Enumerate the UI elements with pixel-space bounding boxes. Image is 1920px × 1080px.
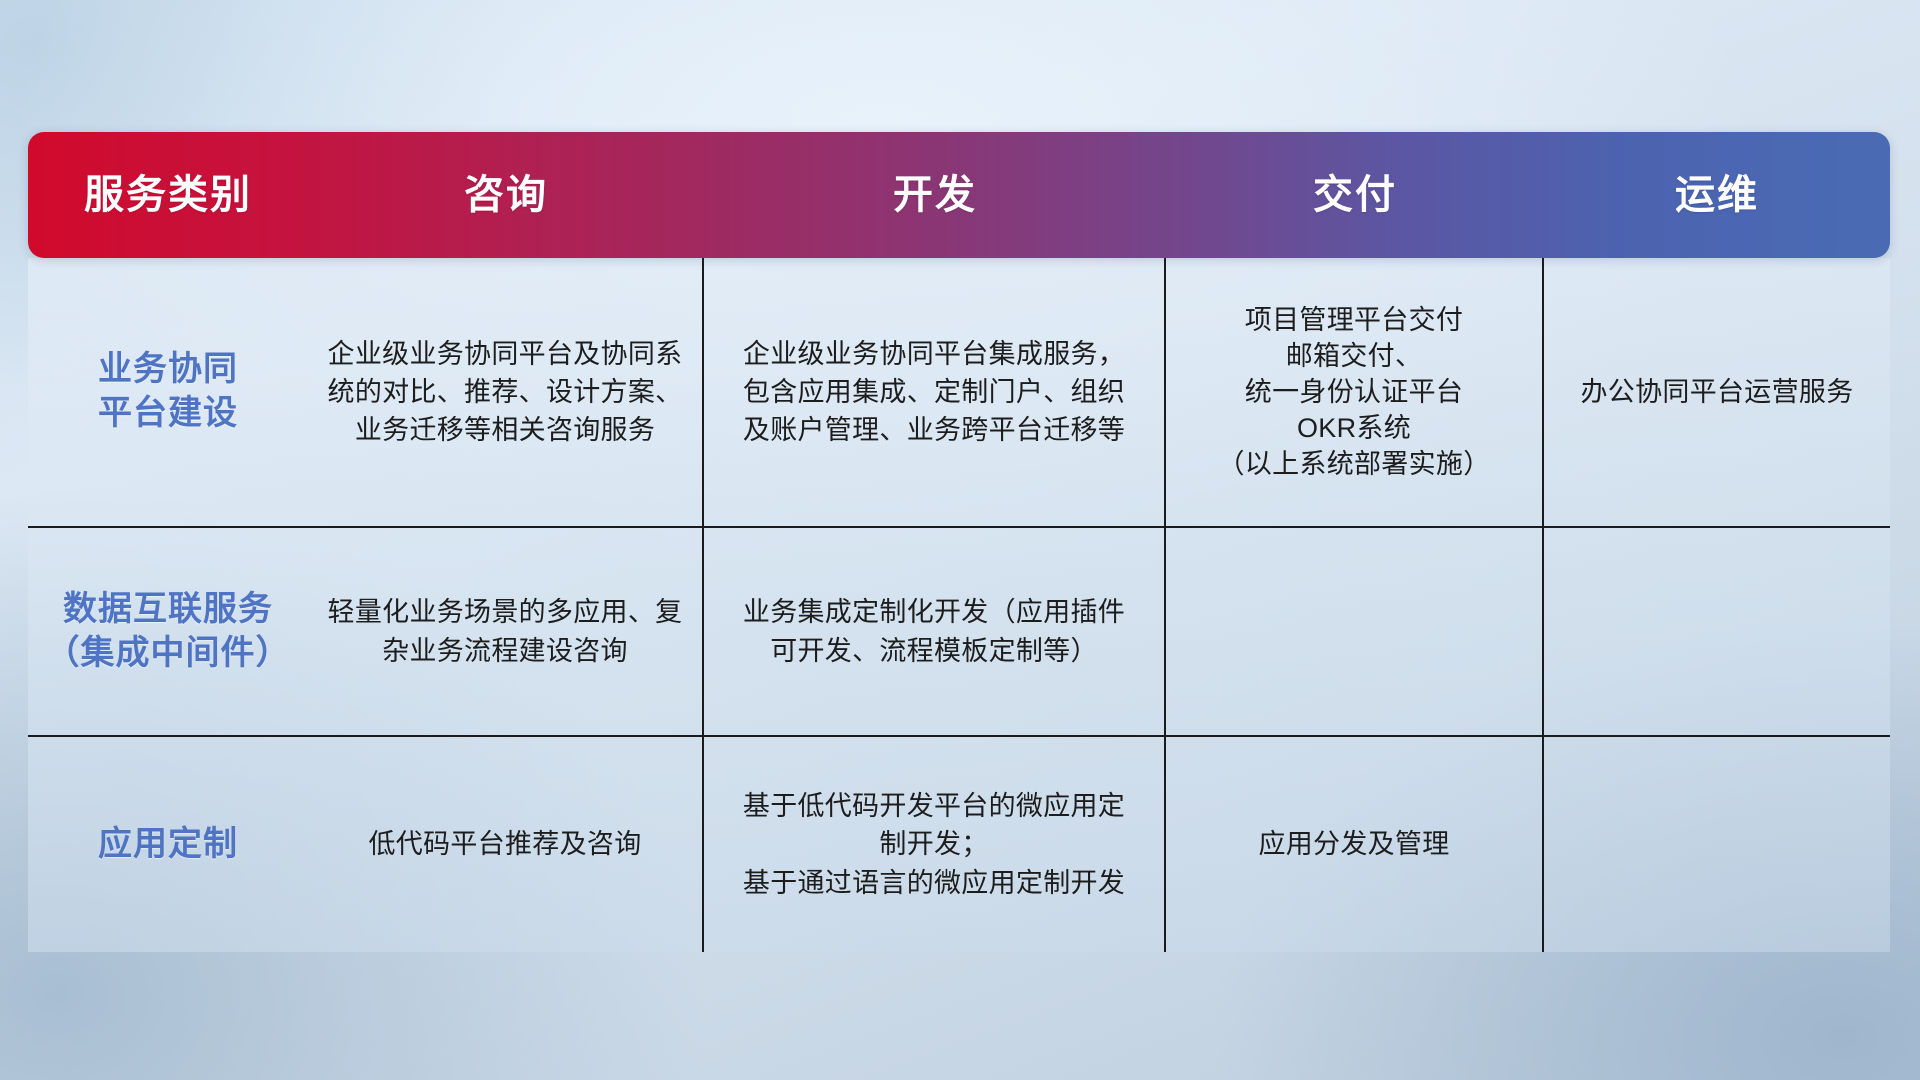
row-operations-cell: 办公协同平台运营服务 bbox=[1544, 258, 1890, 526]
header-cell-service-category: 服务类别 bbox=[28, 175, 308, 215]
row-consulting-cell: 企业级业务协同平台及协同系 统的对比、推荐、设计方案、 业务迁移等相关咨询服务 bbox=[308, 258, 704, 526]
row-category-cell: 数据互联服务 （集成中间件） bbox=[28, 528, 308, 735]
cell-value: 办公协同平台运营服务 bbox=[1581, 373, 1854, 411]
row-delivery-cell: 项目管理平台交付 邮箱交付、 统一身份认证平台 OKR系统 （以上系统部署实施） bbox=[1166, 258, 1544, 526]
table-row: 应用定制 低代码平台推荐及咨询 基于低代码开发平台的微应用定 制开发； 基于通过… bbox=[28, 735, 1890, 952]
cell-value: 业务集成定制化开发（应用插件 可开发、流程模板定制等） bbox=[743, 593, 1125, 670]
header-cell-operations: 运维 bbox=[1544, 175, 1890, 215]
row-category-cell: 业务协同 平台建设 bbox=[28, 258, 308, 526]
cell-value: 企业级业务协同平台集成服务， 包含应用集成、定制门户、组织 及账户管理、业务跨平… bbox=[743, 335, 1125, 450]
row-delivery-cell bbox=[1166, 528, 1544, 735]
header-cell-delivery: 交付 bbox=[1166, 175, 1544, 215]
row-consulting-cell: 轻量化业务场景的多应用、复 杂业务流程建设咨询 bbox=[308, 528, 704, 735]
table-row: 业务协同 平台建设 企业级业务协同平台及协同系 统的对比、推荐、设计方案、 业务… bbox=[28, 258, 1890, 526]
cell-value: 企业级业务协同平台及协同系 统的对比、推荐、设计方案、 业务迁移等相关咨询服务 bbox=[328, 335, 683, 450]
row-consulting-cell: 低代码平台推荐及咨询 bbox=[308, 737, 704, 952]
cell-value: 轻量化业务场景的多应用、复 杂业务流程建设咨询 bbox=[328, 593, 683, 670]
service-matrix-table: 服务类别 咨询 开发 交付 运维 业务协同 平台建设 企业级业务协同平台及协同系… bbox=[28, 132, 1890, 952]
row-development-cell: 业务集成定制化开发（应用插件 可开发、流程模板定制等） bbox=[704, 528, 1166, 735]
cell-value: 应用分发及管理 bbox=[1258, 825, 1449, 863]
category-label: 业务协同 平台建设 bbox=[98, 348, 238, 435]
header-cell-consulting: 咨询 bbox=[308, 175, 704, 215]
row-delivery-cell: 应用分发及管理 bbox=[1166, 737, 1544, 952]
table-header-row: 服务类别 咨询 开发 交付 运维 bbox=[28, 132, 1890, 258]
category-label: 应用定制 bbox=[98, 823, 238, 867]
row-operations-cell bbox=[1544, 737, 1890, 952]
row-development-cell: 基于低代码开发平台的微应用定 制开发； 基于通过语言的微应用定制开发 bbox=[704, 737, 1166, 952]
table-body: 业务协同 平台建设 企业级业务协同平台及协同系 统的对比、推荐、设计方案、 业务… bbox=[28, 258, 1890, 952]
row-development-cell: 企业级业务协同平台集成服务， 包含应用集成、定制门户、组织 及账户管理、业务跨平… bbox=[704, 258, 1166, 526]
header-cell-development: 开发 bbox=[704, 175, 1166, 215]
cell-value: 低代码平台推荐及咨询 bbox=[369, 825, 642, 863]
row-category-cell: 应用定制 bbox=[28, 737, 308, 952]
table-row: 数据互联服务 （集成中间件） 轻量化业务场景的多应用、复 杂业务流程建设咨询 业… bbox=[28, 526, 1890, 735]
cell-value: 基于低代码开发平台的微应用定 制开发； 基于通过语言的微应用定制开发 bbox=[743, 787, 1125, 902]
row-operations-cell bbox=[1544, 528, 1890, 735]
slide-canvas: 服务类别 咨询 开发 交付 运维 业务协同 平台建设 企业级业务协同平台及协同系… bbox=[0, 0, 1920, 1080]
category-label: 数据互联服务 （集成中间件） bbox=[46, 588, 291, 675]
cell-value: 项目管理平台交付 邮箱交付、 统一身份认证平台 OKR系统 （以上系统部署实施） bbox=[1218, 302, 1491, 483]
